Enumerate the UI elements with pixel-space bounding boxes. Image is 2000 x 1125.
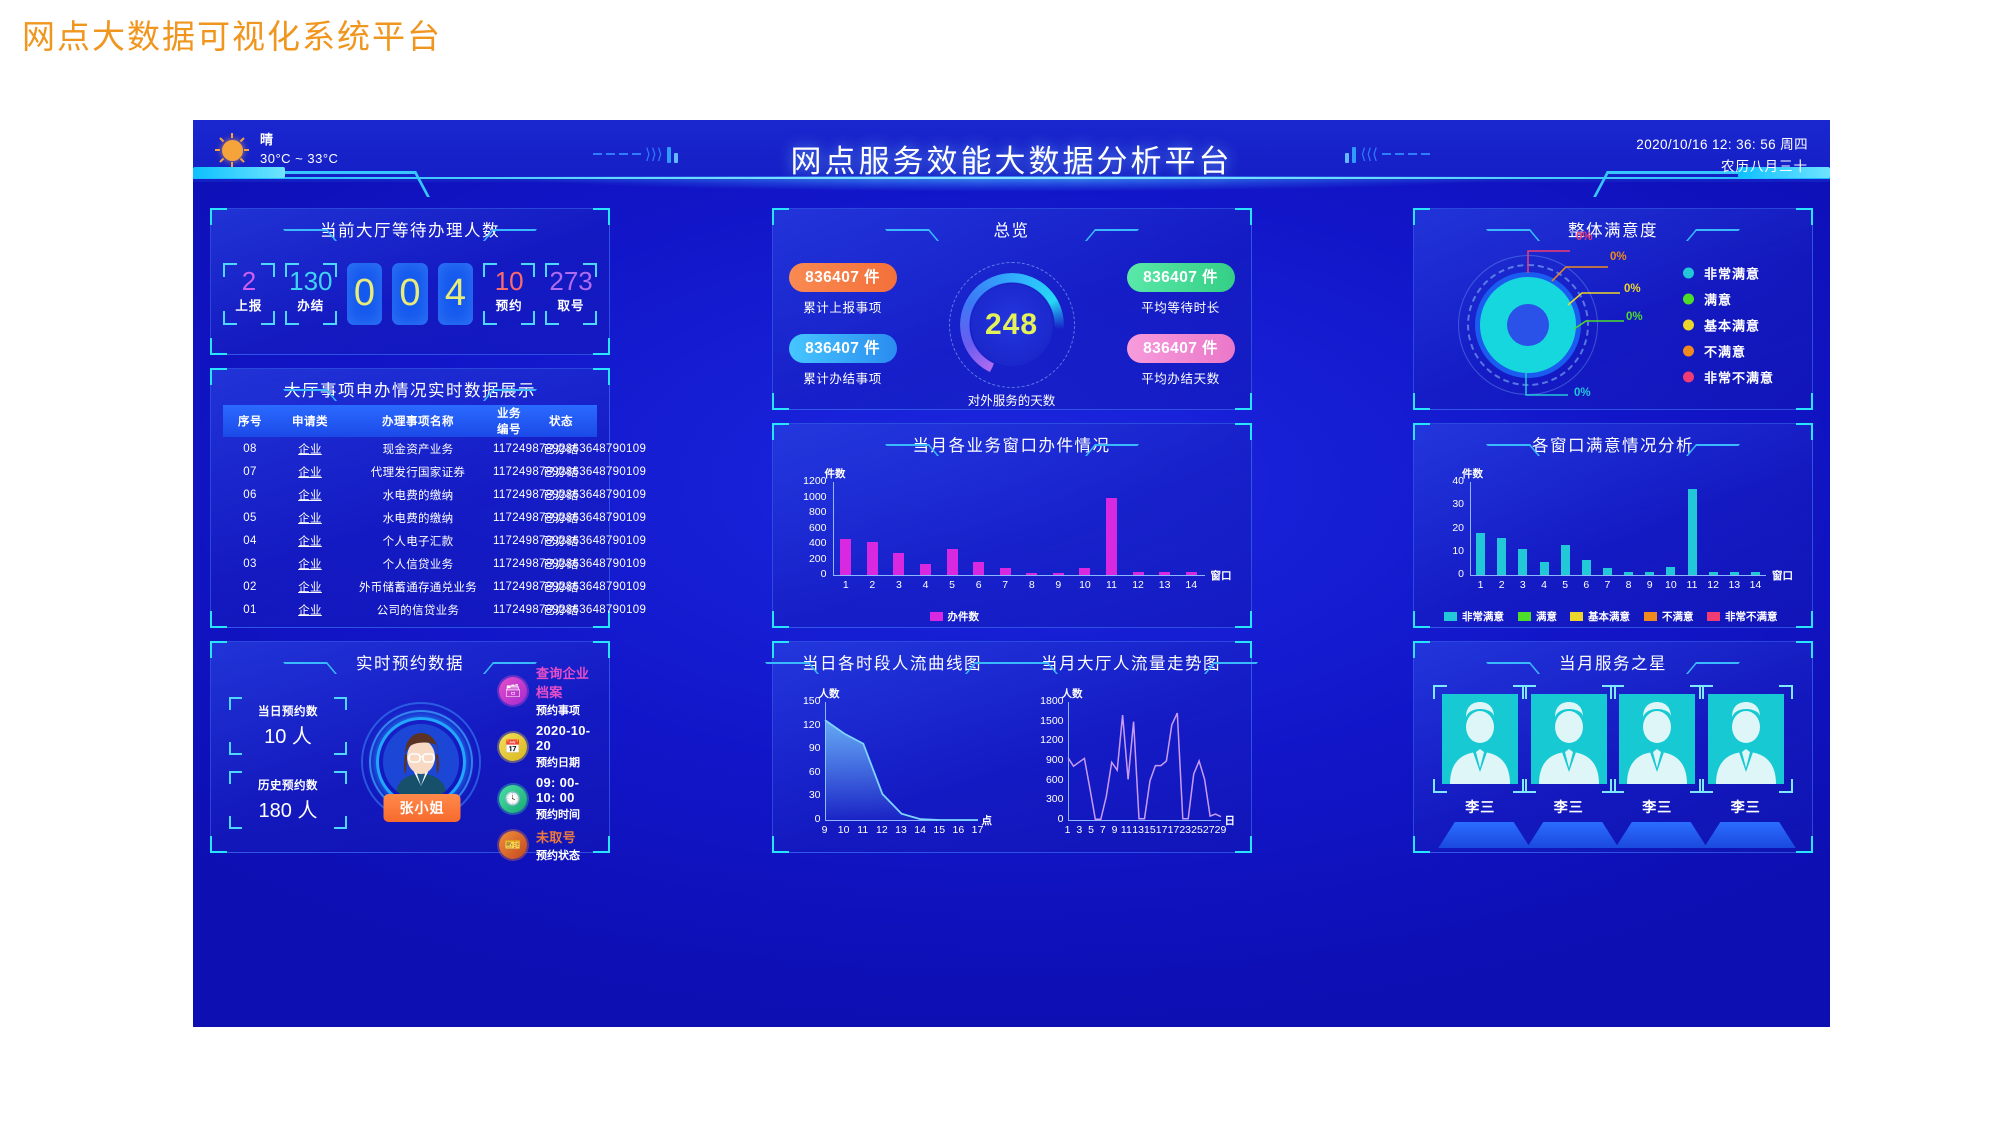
window-satisfaction-bar-chart: 件数窗口0102030401234567891011121314非常满意满意基本… xyxy=(1426,464,1800,619)
metric-completed-total-label: 累计办结事项 xyxy=(789,368,897,387)
chart-y-tick: 20 xyxy=(1430,522,1464,534)
panel-monthly-flow-title: 当月大厅人流量走势图 xyxy=(1041,650,1221,674)
chart-bar xyxy=(920,564,931,575)
panel-grid: 总览 836407 件 累计上报事项 836407 件 累计办结事项 xyxy=(210,208,1813,1013)
panel-hourly-flow-title-bar: 当日各时段人流曲线图 xyxy=(773,646,1012,678)
satisfaction-donut-chart: 0% 0% 0% 0% xyxy=(1458,255,1598,395)
panel-hourly-flow-title: 当日各时段人流曲线图 xyxy=(802,650,982,674)
table-cell-apply: 企业 xyxy=(277,460,343,483)
overview-right-metrics: 836407 件 平均等待时长 836407 件 平均办结天数 xyxy=(1127,263,1235,387)
service-star-card[interactable]: 李三 xyxy=(1704,690,1788,848)
chart-y-tick: 10 xyxy=(1430,545,1464,557)
chart-bar xyxy=(1645,572,1654,575)
metric-avg-wait-value: 836407 件 xyxy=(1127,263,1235,292)
overview-left-metrics: 836407 件 累计上报事项 836407 件 累计办结事项 xyxy=(789,263,897,387)
panel-service-stars: 当月服务之星 李三李三李三李三 xyxy=(1413,641,1813,853)
donut-callout-3: 0% xyxy=(1624,283,1641,295)
panel-service-stars-title: 当月服务之星 xyxy=(1559,650,1667,674)
waiting-box-completed: 130 办结 xyxy=(285,263,337,325)
legend-label-unsatisfied: 不满意 xyxy=(1704,342,1746,361)
chart-y-tick: 1200 xyxy=(793,475,827,487)
page-title: 网点大数据可视化系统平台 xyxy=(22,10,442,58)
chart-x-tick: 13 xyxy=(1153,579,1177,591)
legend-dot-satisfied xyxy=(1683,294,1694,305)
chart-y-tick: 0 xyxy=(793,568,827,580)
table-cell-number: 11724987892863648790109 xyxy=(493,483,525,506)
chart-x-axis xyxy=(833,575,1205,576)
chart-legend-item: 非常满意 xyxy=(1444,609,1504,624)
table-cell-apply: 企业 xyxy=(277,552,343,575)
appointment-history-card: 历史预约数 180 人 xyxy=(229,771,347,829)
appointment-today-value: 10 人 xyxy=(229,720,347,749)
chart-bar xyxy=(1751,572,1760,575)
chart-bar xyxy=(1476,533,1485,575)
table-cell-number: 11724987892863648790109 xyxy=(493,437,525,460)
service-star-pedestal xyxy=(1615,822,1707,848)
chart-legend-label: 基本满意 xyxy=(1588,609,1630,624)
col-header-status: 状态 xyxy=(525,405,597,437)
chart-y-tick: 800 xyxy=(793,506,827,518)
waiting-box-appointment: 10 预约 xyxy=(483,263,535,325)
panel-window-cases-title-bar: 当月各业务窗口办件情况 xyxy=(773,428,1251,460)
chart-legend-item: 满意 xyxy=(1518,609,1557,624)
metric-completed-total-value: 836407 件 xyxy=(789,334,897,363)
table-cell-number: 11724987892863648790109 xyxy=(493,552,525,575)
chart-y-tick: 0 xyxy=(1430,568,1464,580)
dashboard-header: 晴 30°C ~ 33°C ⟩⟩⟩ 网点服务效能大数据分析平台 ⟨⟨⟨ 2020… xyxy=(193,120,1830,198)
chart-bar xyxy=(1026,573,1037,575)
chart-x-tick: 17 xyxy=(966,824,990,836)
chart-bar xyxy=(840,539,851,575)
chart-bar xyxy=(1582,560,1591,575)
chart-x-tick: 2 xyxy=(860,579,884,591)
dashboard-root: 晴 30°C ~ 33°C ⟩⟩⟩ 网点服务效能大数据分析平台 ⟨⟨⟨ 2020… xyxy=(193,120,1830,1027)
table-cell-apply: 企业 xyxy=(277,598,343,621)
service-star-card[interactable]: 李三 xyxy=(1438,690,1522,848)
metric-avg-wait-label: 平均等待时长 xyxy=(1127,297,1235,316)
table-cell-name: 外币储蓄通存通兑业务 xyxy=(343,575,493,598)
clock-display: 2020/10/16 12: 36: 56 周四 农历八月三十 xyxy=(1636,134,1808,177)
panel-overview-title-bar: 总览 xyxy=(773,213,1251,245)
table-cell-number: 11724987892863648790109 xyxy=(493,598,525,621)
appointment-status-label: 预约状态 xyxy=(536,847,580,863)
chart-series-path xyxy=(1020,680,1243,846)
appointment-status-value: 未取号 xyxy=(536,827,580,846)
service-star-name: 李三 xyxy=(1704,797,1788,817)
chart-legend-swatch xyxy=(1518,612,1531,621)
calendar-icon: 📅 xyxy=(499,733,527,761)
main-title: 网点服务效能大数据分析平台 xyxy=(193,136,1830,181)
archive-icon: 🗃 xyxy=(499,677,527,705)
chart-y-unit: 件数 xyxy=(825,466,846,481)
table-cell-apply: 企业 xyxy=(277,437,343,460)
chart-bar xyxy=(1540,562,1549,575)
gauge-label: 对外服务的天数 xyxy=(949,390,1075,409)
chart-x-tick: 5 xyxy=(940,579,964,591)
header-decoration-right: ⟨⟨⟨ xyxy=(1345,145,1430,163)
chart-bar xyxy=(1561,545,1570,575)
chart-x-tick: 3 xyxy=(887,579,911,591)
lunar-date: 农历八月三十 xyxy=(1636,156,1808,178)
metric-avg-days-value: 836407 件 xyxy=(1127,334,1235,363)
appointment-avatar: 张小姐 xyxy=(361,698,483,828)
chart-bar xyxy=(1053,573,1064,575)
hall-events-table: 序号 申请类 办理事项名称 业务编号 状态 08企业现金资产业务11724987… xyxy=(223,405,597,621)
service-days-gauge: 248 对外服务的天数 xyxy=(949,262,1075,388)
chart-x-tick: 8 xyxy=(1020,579,1044,591)
table-cell-name: 公司的信贷业务 xyxy=(343,598,493,621)
appointment-matter-value: 查询企业档案 xyxy=(536,663,591,701)
table-cell-seq: 05 xyxy=(223,506,277,529)
donut-leader-4 xyxy=(1574,313,1664,341)
service-star-card[interactable]: 李三 xyxy=(1527,690,1611,848)
clock-icon: 🕓 xyxy=(499,785,527,813)
donut-callout-5: 0% xyxy=(1574,387,1591,399)
donut-leader-5 xyxy=(1516,367,1616,407)
table-row[interactable]: 07企业代理发行国家证券11724987892863648790109已办结 xyxy=(223,460,597,483)
panel-realtime-appointment: 实时预约数据 当日预约数 10 人 历史预约数 180 人 xyxy=(210,641,610,853)
chart-bar xyxy=(1688,489,1697,575)
chart-legend-item: 不满意 xyxy=(1644,609,1694,624)
appointment-today-card: 当日预约数 10 人 xyxy=(229,697,347,755)
panel-overall-satisfaction: 整体满意度 0% xyxy=(1413,208,1813,410)
hall-events-table-body: 08企业现金资产业务11724987892863648790109已办结07企业… xyxy=(223,437,597,621)
chart-legend-item: 基本满意 xyxy=(1570,609,1630,624)
metric-avg-days-label: 平均办结天数 xyxy=(1127,368,1235,387)
metric-avg-days: 836407 件 平均办结天数 xyxy=(1127,334,1235,387)
employee-photo-icon xyxy=(1442,694,1518,784)
waiting-digit-1: 0 xyxy=(347,263,383,325)
service-star-name: 李三 xyxy=(1438,797,1522,817)
chart-y-tick: 200 xyxy=(793,553,827,565)
chart-x-tick: 12 xyxy=(1126,579,1150,591)
col-header-seq: 序号 xyxy=(223,405,277,437)
window-cases-bar-chart: 件数窗口020040060080010001200123456789101112… xyxy=(785,464,1239,619)
chart-y-tick: 600 xyxy=(793,522,827,534)
chart-legend-swatch xyxy=(1707,612,1720,621)
chart-bar xyxy=(1159,572,1170,575)
chart-y-tick: 30 xyxy=(1430,498,1464,510)
table-row[interactable]: 02企业外币储蓄通存通兑业务11724987892863648790109已办结 xyxy=(223,575,597,598)
table-cell-name: 个人电子汇款 xyxy=(343,529,493,552)
appointment-item-date: 📅 2020-10-20 预约日期 xyxy=(499,723,591,770)
chart-y-tick: 40 xyxy=(1430,475,1464,487)
legend-item-very-satisfied: 非常满意 xyxy=(1683,264,1774,283)
chart-legend-item: 非常不满意 xyxy=(1707,609,1778,624)
legend-dot-very-unsatisfied xyxy=(1683,372,1694,383)
chevrons-left-icon: ⟨⟨⟨ xyxy=(1360,147,1378,162)
panel-hall-table-title-bar: 大厅事项申办情况实时数据展示 xyxy=(211,373,609,405)
appointment-item-matter: 🗃 查询企业档案 预约事项 xyxy=(499,663,591,718)
table-header-row: 序号 申请类 办理事项名称 业务编号 状态 xyxy=(223,405,597,437)
panel-window-cases: 当月各业务窗口办件情况 件数窗口020040060080010001200123… xyxy=(772,423,1252,628)
appointment-history-value: 180 人 xyxy=(229,794,347,823)
table-cell-seq: 07 xyxy=(223,460,277,483)
table-cell-number: 11724987892863648790109 xyxy=(493,529,525,552)
chart-y-unit: 件数 xyxy=(1462,466,1483,481)
chart-legend-swatch xyxy=(1644,612,1657,621)
chart-x-tick: 10 xyxy=(1073,579,1097,591)
table-cell-number: 11724987892863648790109 xyxy=(493,575,525,598)
donut-callout-1: 0% xyxy=(1576,231,1593,243)
panel-service-stars-title-bar: 当月服务之星 xyxy=(1414,646,1812,678)
chart-bar xyxy=(1518,549,1527,575)
employee-photo-icon xyxy=(1708,694,1784,784)
chart-x-tick: 6 xyxy=(967,579,991,591)
panel-overview-title: 总览 xyxy=(994,217,1030,241)
chart-legend-swatch xyxy=(930,612,943,621)
chart-bar xyxy=(1497,538,1506,575)
legend-item-unsatisfied: 不满意 xyxy=(1683,342,1774,361)
col-header-apply: 申请类 xyxy=(277,405,343,437)
panel-waiting-count: 当前大厅等待办理人数 2 上报 130 办结 xyxy=(210,208,610,355)
chart-bar xyxy=(1079,568,1090,575)
panel-monthly-flow-title-bar: 当月大厅人流量走势图 xyxy=(1012,646,1251,678)
metric-reported-total: 836407 件 累计上报事项 xyxy=(789,263,897,316)
chart-x-unit: 窗口 xyxy=(1772,568,1793,583)
service-star-pedestal xyxy=(1438,822,1530,848)
donut-callout-2: 0% xyxy=(1610,251,1627,263)
current-datetime: 2020/10/16 12: 36: 56 周四 xyxy=(1636,134,1808,156)
chart-x-axis xyxy=(1470,575,1766,576)
table-cell-seq: 04 xyxy=(223,529,277,552)
chart-legend-swatch xyxy=(1444,612,1457,621)
table-cell-seq: 01 xyxy=(223,598,277,621)
panel-window-cases-title: 当月各业务窗口办件情况 xyxy=(913,432,1111,456)
appointment-time-value: 09: 00-10: 00 xyxy=(536,775,591,805)
chart-x-tick: 11 xyxy=(1100,579,1124,591)
appointment-matter-label: 预约事项 xyxy=(536,702,591,718)
panel-waiting-title: 当前大厅等待办理人数 xyxy=(320,217,500,241)
monthly-flow-line-chart: 人数日0300600900120015001800135791113151717… xyxy=(1020,680,1243,846)
table-cell-name: 现金资产业务 xyxy=(343,437,493,460)
chart-y-axis xyxy=(1470,482,1471,575)
chart-x-unit: 窗口 xyxy=(1211,568,1232,583)
waiting-digit-3: 4 xyxy=(438,263,474,325)
chart-legend-label: 办件数 xyxy=(948,609,980,624)
chart-bar xyxy=(947,549,958,575)
service-star-name: 李三 xyxy=(1527,797,1611,817)
chart-legend-label: 非常满意 xyxy=(1462,609,1504,624)
service-stars-list: 李三李三李三李三 xyxy=(1426,682,1800,844)
chart-bar xyxy=(1186,572,1197,575)
panel-overview: 总览 836407 件 累计上报事项 836407 件 累计办结事项 xyxy=(772,208,1252,410)
panel-waiting-title-bar: 当前大厅等待办理人数 xyxy=(211,213,609,245)
legend-dot-very-satisfied xyxy=(1683,268,1694,279)
chart-bar xyxy=(973,562,984,575)
satisfaction-legend: 非常满意 满意 基本满意 不满意 xyxy=(1683,257,1774,394)
appointment-time-label: 预约时间 xyxy=(536,806,591,822)
col-header-name: 办理事项名称 xyxy=(343,405,493,437)
gauge-value: 248 xyxy=(985,308,1038,342)
chart-bar xyxy=(867,542,878,575)
appointment-date-value: 2020-10-20 xyxy=(536,723,591,753)
service-star-pedestal xyxy=(1704,822,1796,848)
table-row[interactable]: 06企业水电费的缴纳11724987892863648790109已办结 xyxy=(223,483,597,506)
ticket-icon: 🎫 xyxy=(499,831,527,859)
chart-x-tick: 14 xyxy=(1743,579,1767,591)
table-row[interactable]: 03企业个人信贷业务11724987892863648790109已办结 xyxy=(223,552,597,575)
table-cell-name: 水电费的缴纳 xyxy=(343,483,493,506)
legend-label-satisfied: 满意 xyxy=(1704,290,1732,309)
table-row[interactable]: 04企业个人电子汇款11724987892863648790109已办结 xyxy=(223,529,597,552)
table-cell-apply: 企业 xyxy=(277,575,343,598)
table-cell-apply: 企业 xyxy=(277,506,343,529)
chart-legend-label: 不满意 xyxy=(1662,609,1694,624)
chart-x-tick: 14 xyxy=(1179,579,1203,591)
chart-y-tick: 1000 xyxy=(793,491,827,503)
legend-label-very-unsatisfied: 非常不满意 xyxy=(1704,368,1774,387)
chart-x-tick: 9 xyxy=(1046,579,1070,591)
panel-window-satisfaction-title-bar: 各窗口满意情况分析 xyxy=(1414,428,1812,460)
service-star-pedestal xyxy=(1527,822,1619,848)
table-row[interactable]: 01企业公司的信贷业务11724987892863648790109已办结 xyxy=(223,598,597,621)
panel-flow-charts: 当日各时段人流曲线图 人数点03060901201509101112131415… xyxy=(772,641,1252,853)
chart-x-tick: 1 xyxy=(834,579,858,591)
person-photo-icon xyxy=(383,724,459,800)
col-header-number: 业务编号 xyxy=(493,405,525,437)
legend-dot-unsatisfied xyxy=(1683,346,1694,357)
middle-column: 当前大厅等待办理人数 2 上报 130 办结 xyxy=(210,208,610,628)
legend-item-satisfied: 满意 xyxy=(1683,290,1774,309)
panel-appointment-title: 实时预约数据 xyxy=(356,650,464,674)
table-cell-seq: 03 xyxy=(223,552,277,575)
legend-item-very-unsatisfied: 非常不满意 xyxy=(1683,368,1774,387)
donut-callout-4: 0% xyxy=(1626,311,1643,323)
appointment-person-name: 张小姐 xyxy=(384,794,461,822)
table-cell-seq: 06 xyxy=(223,483,277,506)
employee-photo-icon xyxy=(1619,694,1695,784)
table-cell-number: 11724987892863648790109 xyxy=(493,460,525,483)
employee-photo-icon xyxy=(1531,694,1607,784)
metric-avg-wait: 836407 件 平均等待时长 xyxy=(1127,263,1235,316)
chart-x-tick: 7 xyxy=(993,579,1017,591)
table-cell-name: 个人信贷业务 xyxy=(343,552,493,575)
chart-bar xyxy=(1709,572,1718,575)
table-cell-apply: 企业 xyxy=(277,483,343,506)
legend-dot-basic-satisfied xyxy=(1683,320,1694,331)
appointment-detail-list: 🗃 查询企业档案 预约事项 📅 2020-10-20 预约日期 xyxy=(493,663,591,863)
donut-leader-3 xyxy=(1568,285,1658,313)
chart-x-tick: 4 xyxy=(914,579,938,591)
panel-window-satisfaction-title: 各窗口满意情况分析 xyxy=(1532,432,1694,456)
chart-legend-swatch xyxy=(1570,612,1583,621)
chart-series-path xyxy=(781,680,1004,846)
waiting-digit-2: 0 xyxy=(392,263,428,325)
appointment-item-status: 🎫 未取号 预约状态 xyxy=(499,827,591,863)
service-star-card[interactable]: 李三 xyxy=(1615,690,1699,848)
waiting-box-ticket: 273 取号 xyxy=(545,263,597,325)
metric-completed-total: 836407 件 累计办结事项 xyxy=(789,334,897,387)
chart-legend-label: 满意 xyxy=(1536,609,1557,624)
metric-reported-total-label: 累计上报事项 xyxy=(789,297,897,316)
legend-label-basic-satisfied: 基本满意 xyxy=(1704,316,1760,335)
chart-bar xyxy=(1000,568,1011,575)
table-cell-name: 代理发行国家证券 xyxy=(343,460,493,483)
waiting-box-reported: 2 上报 xyxy=(223,263,275,325)
legend-label-very-satisfied: 非常满意 xyxy=(1704,264,1760,283)
table-cell-name: 水电费的缴纳 xyxy=(343,506,493,529)
service-star-name: 李三 xyxy=(1615,797,1699,817)
chart-bar xyxy=(1624,572,1633,575)
hourly-flow-area-chart: 人数点030609012015091011121314151617 xyxy=(781,680,1004,846)
chart-legend-item: 办件数 xyxy=(930,609,980,624)
table-cell-seq: 08 xyxy=(223,437,277,460)
chart-bar xyxy=(1133,572,1144,575)
chart-bar xyxy=(893,553,904,575)
chart-bar xyxy=(1730,572,1739,575)
chart-x-tick: 29 xyxy=(1209,824,1233,836)
appointment-item-time: 🕓 09: 00-10: 00 预约时间 xyxy=(499,775,591,822)
appointment-today-label: 当日预约数 xyxy=(229,703,347,719)
chart-bar xyxy=(1106,498,1117,576)
appointment-date-label: 预约日期 xyxy=(536,754,591,770)
chart-bar xyxy=(1603,568,1612,575)
table-row[interactable]: 05企业水电费的缴纳11724987892863648790109已办结 xyxy=(223,506,597,529)
table-cell-number: 11724987892863648790109 xyxy=(493,506,525,529)
panel-hall-table: 大厅事项申办情况实时数据展示 序号 申请类 办理事项名称 业务编号 状态 xyxy=(210,368,610,628)
chart-y-axis xyxy=(833,482,834,575)
metric-reported-total-value: 836407 件 xyxy=(789,263,897,292)
chart-y-tick: 400 xyxy=(793,537,827,549)
appointment-history-label: 历史预约数 xyxy=(229,777,347,793)
table-row[interactable]: 08企业现金资产业务11724987892863648790109已办结 xyxy=(223,437,597,460)
legend-item-basic-satisfied: 基本满意 xyxy=(1683,316,1774,335)
chart-legend-label: 非常不满意 xyxy=(1725,609,1778,624)
chart-bar xyxy=(1666,567,1675,575)
table-cell-apply: 企业 xyxy=(277,529,343,552)
panel-window-satisfaction: 各窗口满意情况分析 件数窗口01020304012345678910111213… xyxy=(1413,423,1813,628)
table-cell-seq: 02 xyxy=(223,575,277,598)
